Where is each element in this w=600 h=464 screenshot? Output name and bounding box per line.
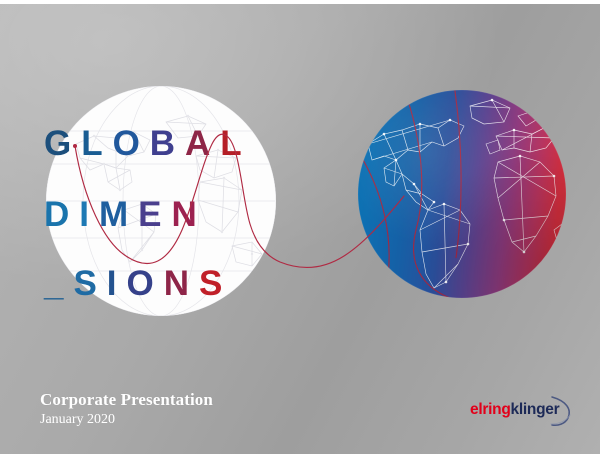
presentation-date: January 2020 [40, 412, 213, 428]
headline-letter: N [171, 195, 206, 234]
headline-letter: E [138, 195, 171, 234]
headline-letter: S [73, 264, 106, 303]
headline-letter: D [44, 195, 79, 234]
headline-letter: N [164, 264, 199, 303]
headline-line-1: GLOBAL [44, 126, 514, 161]
footer-text-block: Corporate Presentation January 2020 [40, 390, 213, 428]
slide-canvas: GLOBAL DIMEN _SIONS Corporate Presentati… [0, 4, 600, 454]
headline-letter: S [199, 264, 232, 303]
headline-letter: L [81, 124, 112, 163]
presentation-slide: GLOBAL DIMEN _SIONS Corporate Presentati… [0, 0, 600, 464]
headline-letter: I [79, 195, 99, 234]
headline-letter: G [44, 124, 81, 163]
headline-letter: L [220, 124, 251, 163]
logo-wordmark: elringklinger [470, 401, 559, 419]
headline-letter: O [126, 264, 163, 303]
elringklinger-logo: elringklinger [470, 396, 574, 430]
headline-letter: B [150, 124, 185, 163]
headline-letter: _ [44, 264, 73, 303]
headline-line-2: DIMEN [44, 197, 514, 232]
headline-letter: O [113, 124, 150, 163]
logo-word-elring: elring [470, 401, 511, 418]
headline-line-3: _SIONS [44, 266, 514, 301]
headline-letter: A [185, 124, 220, 163]
logo-swoosh-icon [550, 395, 576, 427]
page-title: Corporate Presentation [40, 390, 213, 410]
headline-block: GLOBAL DIMEN _SIONS [44, 126, 514, 301]
headline-letter: I [107, 264, 127, 303]
headline-letter: M [99, 195, 138, 234]
